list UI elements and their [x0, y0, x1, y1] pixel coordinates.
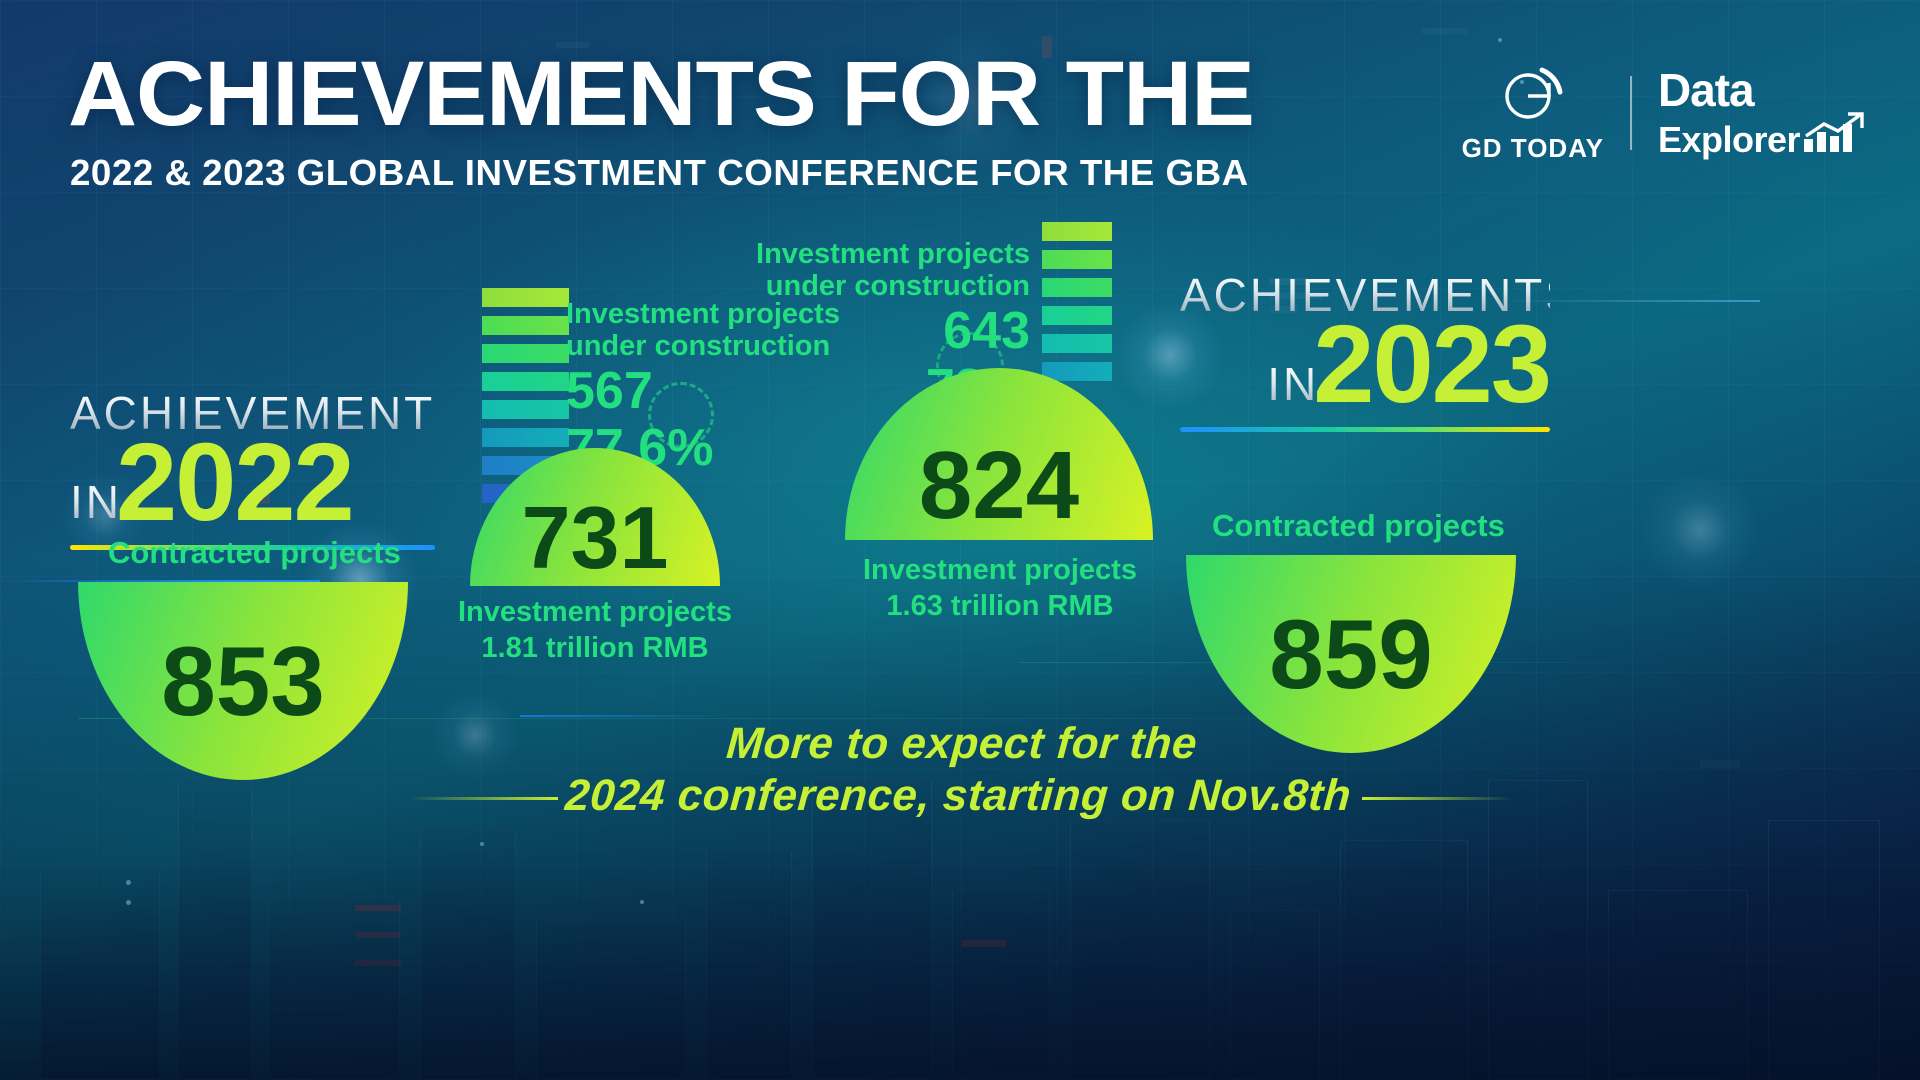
footer-tagline: More to expect for the 2024 conference, …	[556, 718, 1363, 822]
construction-label-right-line2: under construction	[690, 270, 1030, 302]
construction-value-right: 643	[690, 303, 1030, 360]
investment-label-right-line1: Investment projects	[840, 552, 1160, 588]
page-title: ACHIEVEMENTS FOR THE	[68, 48, 1254, 140]
footer-tagline-line2: 2024 conference, starting on Nov.8th	[556, 770, 1360, 822]
logo-group: GD TODAY Data Explorer	[1462, 62, 1868, 164]
gd-circle-icon	[1498, 62, 1568, 129]
year-heading-2023: ACHIEVEMENTS IN 2023	[1180, 272, 1550, 432]
year-number-2023: 2023	[1313, 318, 1550, 413]
page-subtitle: 2022 & 2023 GLOBAL INVESTMENT CONFERENCE…	[70, 152, 1249, 194]
investment-caption-right: Investment projects 1.63 trillion RMB	[840, 552, 1160, 625]
data-explorer-logo: Data Explorer	[1658, 69, 1868, 158]
investment-caption-left: Investment projects 1.81 trillion RMB	[440, 594, 750, 667]
contracted-label-right: Contracted projects	[1212, 508, 1505, 544]
in-word-left: IN	[70, 479, 122, 531]
construction-label-right-line1: Investment projects	[690, 238, 1030, 270]
contracted-label-left: Contracted projects	[108, 535, 401, 571]
data-explorer-line2: Explorer	[1658, 123, 1800, 157]
footer-tagline-line1: More to expect for the	[560, 718, 1364, 770]
investment-label-right-line2: 1.63 trillion RMB	[840, 588, 1160, 624]
investment-label-left-line1: Investment projects	[440, 594, 750, 630]
year-number-2022: 2022	[116, 436, 353, 531]
tagline-rule-right	[1362, 797, 1512, 800]
bar-stack-right	[1042, 222, 1112, 381]
investment-value-right: 824	[919, 438, 1079, 534]
investment-label-left-line2: 1.81 trillion RMB	[440, 630, 750, 666]
year-heading-2022: ACHIEVEMENTS IN 2022	[70, 390, 435, 550]
data-explorer-line1: Data	[1658, 69, 1868, 113]
in-word-right: IN	[1267, 361, 1319, 413]
tagline-rule-left	[408, 797, 558, 800]
investment-value-left: 731	[522, 494, 669, 582]
contracted-value-left: 853	[161, 632, 325, 730]
gd-today-logo: GD TODAY	[1462, 62, 1604, 164]
contracted-value-right: 859	[1269, 605, 1433, 703]
year-underline-right	[1180, 427, 1550, 432]
logo-divider	[1630, 76, 1632, 150]
gd-today-label: GD TODAY	[1462, 133, 1604, 164]
bar-chart-arrow-icon	[1802, 112, 1868, 157]
infographic-canvas: ACHIEVEMENTS FOR THE 2022 & 2023 GLOBAL …	[0, 0, 1920, 1080]
